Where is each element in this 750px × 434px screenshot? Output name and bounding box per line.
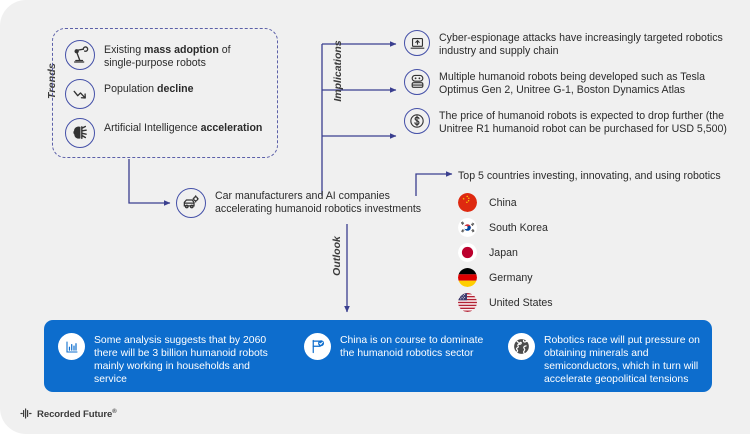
- trend-item-label: Artificial Intelligence acceleration: [104, 118, 262, 135]
- implication-item-label: Cyber-espionage attacks have increasingl…: [439, 30, 729, 59]
- trend-item-label: Population decline: [104, 79, 194, 96]
- bar-chart-icon: [58, 333, 85, 360]
- country-row: South Korea: [458, 215, 738, 240]
- investment-driver-item: Car manufacturers and AI companies accel…: [176, 188, 441, 218]
- trend-item-label: Existing mass adoption of single-purpose…: [104, 40, 264, 70]
- implications-list: Cyber-espionage attacks have increasingl…: [404, 30, 734, 146]
- country-row: China: [458, 190, 738, 215]
- investment-driver-label: Car manufacturers and AI companies accel…: [215, 188, 441, 217]
- robot-arm-icon: [65, 40, 95, 70]
- country-row: Japan: [458, 240, 738, 265]
- flag-check-icon: [304, 333, 331, 360]
- trend-item: Population decline: [65, 79, 267, 109]
- humanoid-robot-icon: [404, 69, 430, 95]
- ai-brain-chip-icon: [65, 118, 95, 148]
- country-label: China: [489, 197, 517, 209]
- implication-item: Multiple humanoid robots being developed…: [404, 69, 734, 98]
- trend-item: Existing mass adoption of single-purpose…: [65, 40, 267, 70]
- trend-item: Artificial Intelligence acceleration: [65, 118, 267, 148]
- infographic-canvas: Trends Existing mass adoption of single-…: [0, 0, 750, 434]
- globe-icon: [508, 333, 535, 360]
- takeaway-item: China is on course to dominate the human…: [300, 333, 508, 360]
- implications-section-label: Implications: [332, 31, 344, 111]
- top-countries-panel: Top 5 countries investing, innovating, a…: [458, 170, 738, 315]
- implication-item: Cyber-espionage attacks have increasingl…: [404, 30, 734, 59]
- takeaway-item: Some analysis suggests that by 2060 ther…: [44, 333, 300, 386]
- takeaway-item: Robotics race will put pressure on obtai…: [508, 333, 708, 386]
- logo-trademark: ®: [112, 409, 116, 415]
- flag-united-states-icon: [458, 293, 477, 312]
- flag-south-korea-icon: [458, 218, 477, 237]
- country-label: Japan: [489, 247, 518, 259]
- implication-item-label: Multiple humanoid robots being developed…: [439, 69, 729, 98]
- dollar-coin-icon: [404, 108, 430, 134]
- country-row: United States: [458, 290, 738, 315]
- country-label: Germany: [489, 272, 533, 284]
- implication-item-label: The price of humanoid robots is expected…: [439, 108, 729, 137]
- declining-trend-arrow-icon: [65, 79, 95, 109]
- car-gear-icon: [176, 188, 206, 218]
- flag-japan-icon: [458, 243, 477, 262]
- flag-germany-icon: [458, 268, 477, 287]
- takeaway-label: Robotics race will put pressure on obtai…: [544, 333, 704, 386]
- country-label: South Korea: [489, 222, 548, 234]
- laptop-upload-icon: [404, 30, 430, 56]
- flag-china-icon: [458, 193, 477, 212]
- key-takeaways-bar: Some analysis suggests that by 2060 ther…: [44, 320, 712, 392]
- implication-item: The price of humanoid robots is expected…: [404, 108, 734, 137]
- logo-wordmark-text: Recorded Future: [37, 410, 112, 421]
- outlook-section-label: Outlook: [331, 219, 343, 293]
- logo-wordmark: Recorded Future®: [37, 409, 117, 420]
- country-label: United States: [489, 297, 553, 309]
- takeaway-label: Some analysis suggests that by 2060 ther…: [94, 333, 284, 386]
- country-row: Germany: [458, 265, 738, 290]
- trends-box: Existing mass adoption of single-purpose…: [52, 28, 278, 158]
- waveform-icon: [20, 406, 33, 424]
- recorded-future-logo: Recorded Future®: [20, 406, 117, 424]
- takeaway-label: China is on course to dominate the human…: [340, 333, 498, 360]
- top-countries-title: Top 5 countries investing, innovating, a…: [458, 170, 738, 182]
